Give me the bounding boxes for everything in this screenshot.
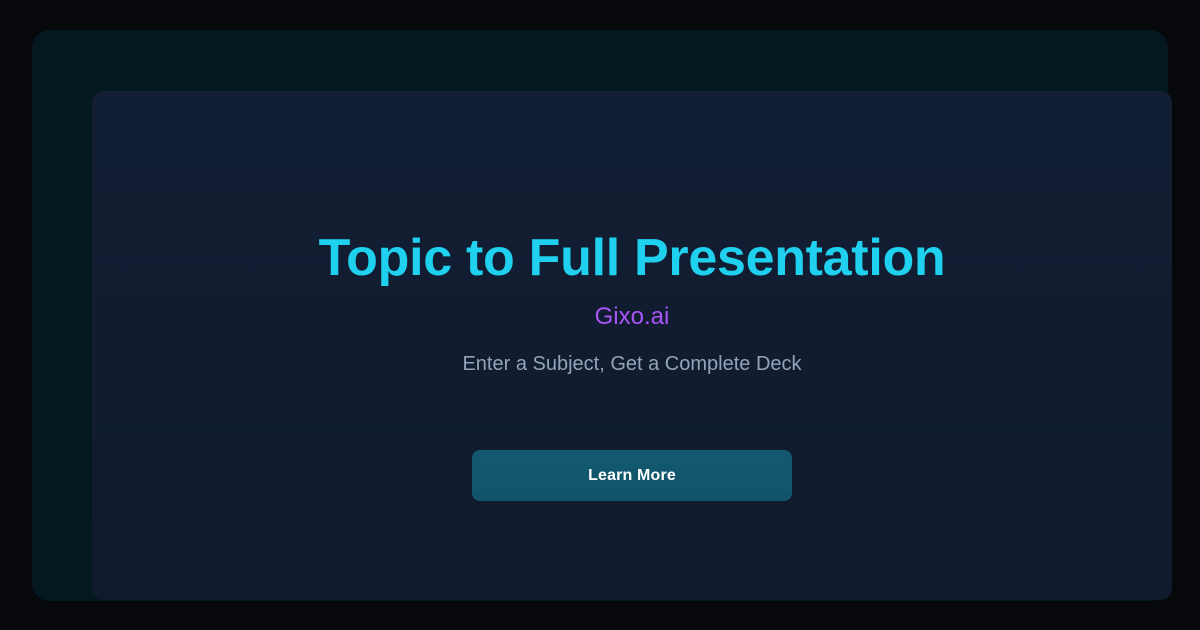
slide-subtitle: Enter a Subject, Get a Complete Deck <box>92 352 1172 377</box>
learn-more-button[interactable]: Learn More <box>472 450 792 501</box>
slide-frame: Topic to Full Presentation Gixo.ai Enter… <box>32 30 1168 601</box>
brand-name: Gixo.ai <box>92 303 1172 332</box>
cta-row: Learn More <box>92 450 1172 501</box>
slide-canvas: Topic to Full Presentation Gixo.ai Enter… <box>0 0 1200 630</box>
slide-card: Topic to Full Presentation Gixo.ai Enter… <box>92 91 1172 600</box>
hero-text-block: Topic to Full Presentation Gixo.ai Enter… <box>92 230 1172 377</box>
slide-title: Topic to Full Presentation <box>92 230 1172 286</box>
